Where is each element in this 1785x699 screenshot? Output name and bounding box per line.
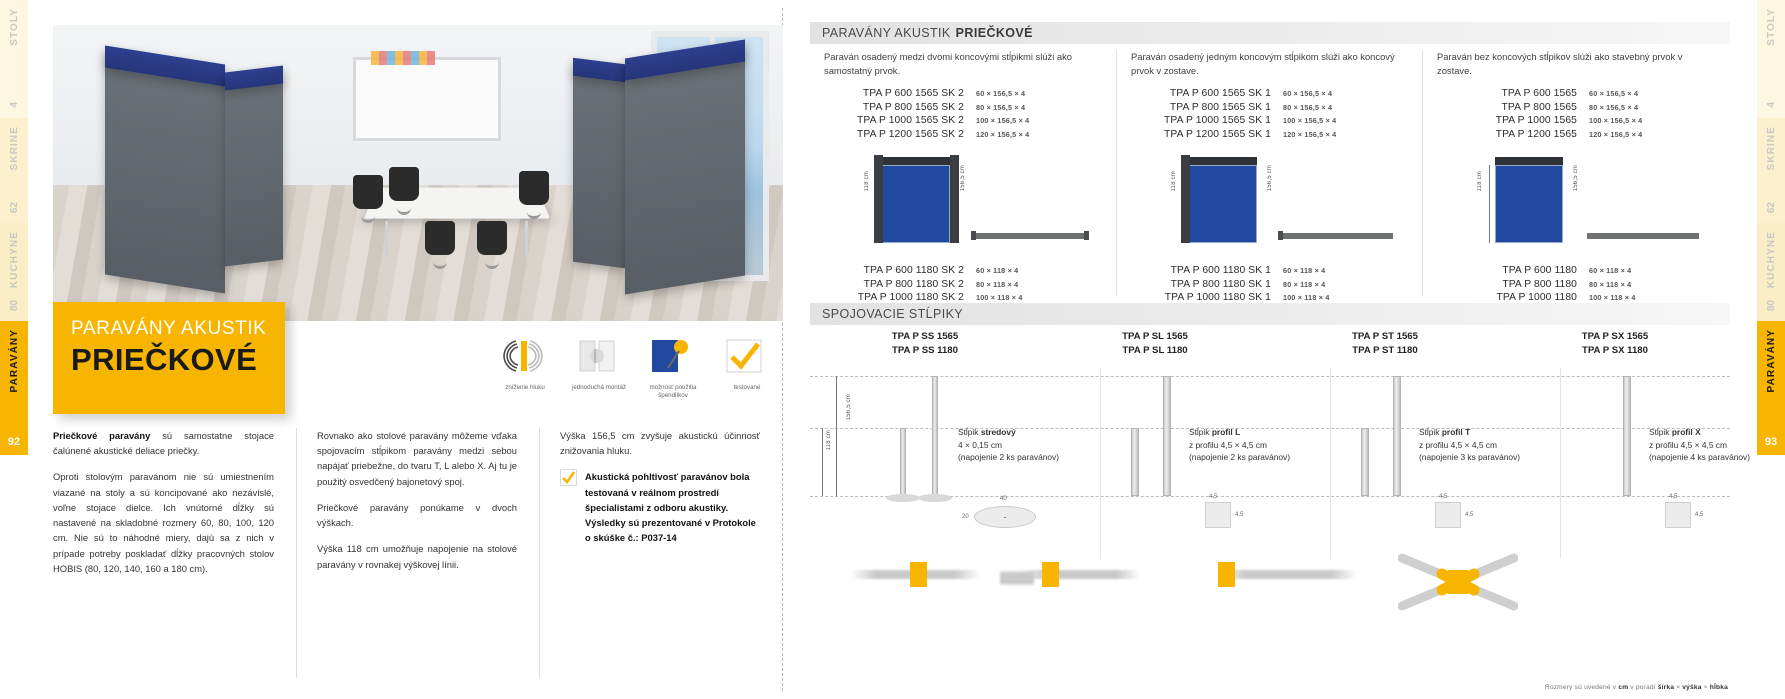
product-code: TPA P 600 1180 SK 1 [1131, 265, 1283, 276]
feature-icon-assembly: jednoduchá montáž [570, 332, 628, 402]
product-dimensions: 60 × 156,5 × 4 [1589, 89, 1638, 98]
end-post-left [1181, 155, 1190, 243]
partition-panel-grey-3 [573, 62, 625, 268]
hero-photo [53, 25, 783, 321]
code-row: TPA P 800 1565 SK 180 × 156,5 × 4 [1131, 102, 1408, 116]
dimension-118: 118 cm [826, 430, 832, 450]
sidebar-item-stoly[interactable]: STOLY 4 [0, 0, 28, 118]
stlpik-label-lead: Stĺpik [1189, 427, 1212, 437]
dimension-depth: 4,5 [1695, 512, 1703, 518]
code-row: TPA P 600 1180 SK 160 × 118 × 4 [1131, 265, 1408, 279]
office-chair [425, 221, 455, 255]
post-cross-section-oval: - [974, 506, 1036, 528]
dimension-1565: 156,5 cm [846, 394, 852, 420]
stlpiky-header-1: TPA P SS 1565 TPA P SS 1180 [810, 330, 1040, 358]
whiteboard [353, 57, 501, 141]
section-header-text: SPOJOVACIE STĹPIKY [822, 307, 963, 321]
partition-panel-grey-2 [225, 69, 283, 266]
sidebar-item-label: SKRINE [9, 126, 20, 170]
stlpiky-header-3: TPA P ST 1565 TPA P ST 1180 [1270, 330, 1500, 358]
product-code: TPA P 800 1180 SK 1 [1131, 279, 1283, 290]
section-header-bold: PRIEČKOVÉ [956, 26, 1033, 40]
connector-L-icon [1042, 562, 1059, 587]
product-code: TPA P SL 1565 [1040, 330, 1270, 344]
tested-check-icon [560, 469, 577, 486]
code-row: TPA P 1000 1565 SK 1100 × 156,5 × 4 [1131, 115, 1408, 129]
product-code: TPA P 1200 1565 SK 2 [824, 129, 976, 140]
feature-icons-row: zníženie hluku jednoduchá montáž [496, 332, 776, 402]
paragraph-rest: Rovnako ako stolové paravány môžeme vďak… [317, 430, 517, 487]
sidebar-item-paravany[interactable]: PARAVÁNY 92 [0, 321, 28, 429]
end-post-left [874, 155, 883, 243]
sidebar-item-label: STOLY [9, 8, 20, 46]
post-foot [886, 494, 920, 502]
code-row: TPA P 600 156560 × 156,5 × 4 [1437, 88, 1714, 102]
stlpik-label-rest: 4 × 0,15 cm (napojenie 2 ks paravánov) [958, 440, 1059, 463]
connector-T-icon [1218, 562, 1235, 587]
code-row: TPA P 1000 1565 SK 2100 × 156,5 × 4 [824, 115, 1102, 129]
dimension-height-1565: 156,5 cm [960, 165, 966, 191]
stlpiky-header-2: TPA P SL 1565 TPA P SL 1180 [1040, 330, 1270, 358]
dimension-height-118: 118 cm [1477, 171, 1483, 191]
product-code: TPA P 1000 1180 SK 1 [1131, 292, 1283, 303]
stlpik-column-3: Stĺpik profil T z profilu 4,5 × 4,5 cm (… [1330, 368, 1560, 558]
sidebar-item-number: 80 [9, 300, 20, 311]
office-chair [477, 221, 507, 255]
dimension-height-1565: 156,5 cm [1267, 165, 1273, 191]
post-short-preview [1131, 428, 1139, 496]
page-number-left: 92 [0, 429, 28, 455]
product-code: TPA P ST 1180 [1270, 344, 1500, 358]
sidebar-item-number: 4 [1766, 102, 1777, 108]
table-leg [525, 221, 528, 257]
product-dimensions: 100 × 156,5 × 4 [976, 116, 1029, 125]
dimension-height-1565: 156,5 cm [1573, 165, 1579, 191]
sidebar-item-skrine[interactable]: SKRINE 62 [0, 118, 28, 223]
panel-base-view [1587, 233, 1699, 239]
feature-icon-caption: jednoduchá montáž [570, 384, 628, 392]
page-title-line2: PRIEČKOVÉ [71, 343, 267, 376]
dimension-depth: 4,5 [1465, 512, 1473, 518]
dimension-height-118: 118 cm [864, 171, 870, 191]
paragraph: Priečkové paravány sú samostatne stojace… [53, 428, 274, 458]
paragraph: Oproti stolovým paravánom nie sú umiestn… [53, 469, 274, 576]
sidebar-item-label: PARAVÁNY [9, 329, 20, 392]
panel-blue-body [882, 165, 950, 243]
sidebar-item-number: 62 [9, 202, 20, 213]
code-row: TPA P 800 156580 × 156,5 × 4 [1437, 102, 1714, 116]
stlpik-label-rest: z profilu 4,5 × 4,5 cm (napojenie 2 ks p… [1189, 440, 1290, 463]
footnote-pre: Rozmery sú uvedené v [1545, 684, 1618, 691]
panel-variant-columns: Paraván osadený medzi dvomi koncovými st… [810, 50, 1730, 296]
dimension-width: 4,5 [1439, 494, 1447, 500]
section-header-normal: PARAVÁNY AKUSTIK [822, 26, 951, 40]
stlpiky-drawings: 118 cm 156,5 cm Stĺpik stredový 4 × 0,15… [810, 368, 1730, 558]
section-header-paravany: PARAVÁNY AKUSTIK PRIEČKOVÉ [810, 22, 1730, 44]
product-code: TPA P SX 1565 [1500, 330, 1730, 344]
product-code: TPA P 1000 1180 SK 2 [824, 292, 976, 303]
post-tall-preview [1623, 376, 1631, 496]
product-dimensions: 60 × 118 × 4 [976, 266, 1018, 275]
stlpik-column-2: Stĺpik profil L z profilu 4,5 × 4,5 cm (… [1100, 368, 1330, 558]
base-cap [1084, 231, 1089, 240]
footnote-d2: výška [1682, 684, 1701, 691]
product-dimensions: 100 × 118 × 4 [1589, 293, 1636, 302]
product-dimensions: 100 × 156,5 × 4 [1283, 116, 1336, 125]
product-dimensions: 60 × 118 × 4 [1283, 266, 1325, 275]
dimension-line [1489, 165, 1490, 243]
dimension-height-118: 118 cm [1171, 171, 1177, 191]
feature-icon-tested: testované [718, 332, 776, 402]
product-code: TPA P 600 1180 [1437, 265, 1589, 276]
code-row: TPA P 800 1180 SK 180 × 118 × 4 [1131, 279, 1408, 293]
noise-reduction-icon [496, 332, 550, 380]
body-text-columns: Priečkové paravány sú samostatne stojace… [53, 428, 783, 678]
panel-blue-body [1495, 165, 1563, 243]
variant-description: Paraván osadený jedným koncovým stĺpikom… [1131, 50, 1408, 80]
product-dimensions: 100 × 118 × 4 [1283, 293, 1330, 302]
panel-base-view [974, 233, 1086, 239]
paragraph-rest: Výška 118 cm umožňuje napojenie na stolo… [317, 543, 517, 569]
stlpiky-header-4: TPA P SX 1565 TPA P SX 1180 [1500, 330, 1730, 358]
panel-connection-T [1218, 570, 1358, 579]
product-code: TPA P SS 1180 [810, 344, 1040, 358]
product-code: TPA P 800 1565 SK 2 [824, 102, 976, 113]
left-page: PARAVÁNY AKUSTIK PRIEČKOVÉ [28, 0, 783, 699]
stlpik-label-rest: z profilu 4,5 × 4,5 cm (napojenie 3 ks p… [1419, 440, 1520, 463]
dimension-line-118 [822, 428, 823, 496]
product-code: TPA P 1000 1180 [1437, 292, 1589, 303]
product-code: TPA P 600 1565 SK 2 [824, 88, 976, 99]
base-cap [971, 231, 976, 240]
code-row: TPA P 1200 1565 SK 2120 × 156,5 × 4 [824, 129, 1102, 143]
paragraph: Rovnako ako stolové paravány môžeme vďak… [317, 428, 517, 489]
sidebar-item-stoly-right[interactable]: STOLY 4 [1757, 0, 1785, 118]
product-code: TPA P 800 1180 [1437, 279, 1589, 290]
product-code: TPA P 1200 1565 SK 1 [1131, 129, 1283, 140]
sidebar-item-kuchyne[interactable]: KUCHYNE 80 [0, 223, 28, 321]
sidebar-item-label: SKRINE [1766, 126, 1777, 170]
stlpik-column-1: Stĺpik stredový 4 × 0,15 cm (napojenie 2… [870, 368, 1100, 558]
panel-drawing-3: 118 cm 156,5 cm [1437, 149, 1714, 257]
stlpik-label-lead: Stĺpik [958, 427, 981, 437]
code-row: TPA P 600 118060 × 118 × 4 [1437, 265, 1714, 279]
sidebar-item-label: STOLY [1766, 8, 1777, 46]
dimension-depth: 20 [962, 514, 969, 520]
partition-panel-grey-4 [625, 43, 745, 294]
stlpik-label-bold: stredový [981, 427, 1016, 437]
body-column-3: Výška 156,5 cm zvyšuje akustickú účinnos… [539, 428, 782, 678]
product-dimensions: 80 × 156,5 × 4 [1283, 103, 1332, 112]
stlpik-label-lead: Stĺpik [1649, 427, 1672, 437]
footnote-d1: šírka [1658, 684, 1674, 691]
right-page: PARAVÁNY AKUSTIK PRIEČKOVÉ Paraván osade… [800, 0, 1740, 699]
partition-panel-grey-1 [105, 49, 225, 293]
code-row: TPA P 1000 1565100 × 156,5 × 4 [1437, 115, 1714, 129]
cross-section-square-4 [1665, 502, 1691, 528]
pin-usable-icon [644, 332, 698, 380]
product-code: TPA P 1000 1565 SK 1 [1131, 115, 1283, 126]
product-code: TPA P 800 1565 SK 1 [1131, 102, 1283, 113]
panel-connection-L-leg [1000, 570, 1034, 586]
variant-description: Paraván osadený medzi dvomi koncovými st… [824, 50, 1102, 80]
footnote-d3: hĺbka [1710, 684, 1728, 691]
office-chair [389, 167, 419, 201]
cross-section-1: - 40 20 [974, 498, 1044, 528]
sidebar-item-number: 80 [1766, 300, 1777, 311]
feature-icon-caption: zníženie hluku [496, 384, 554, 392]
product-dimensions: 60 × 156,5 × 4 [976, 89, 1025, 98]
panel-variant-2: Paraván osadený jedným koncovým stĺpikom… [1116, 50, 1422, 296]
code-row: TPA P 1200 1565120 × 156,5 × 4 [1437, 129, 1714, 143]
catalog-page: STOLY 4 SKRINE 62 KUCHYNE 80 PARAVÁNY 92… [0, 0, 1785, 699]
body-column-2: Rovnako ako stolové paravány môžeme vďak… [296, 428, 539, 678]
right-side-tabs: STOLY 4 SKRINE 62 KUCHYNE 80 PARAVÁNY 93 [1757, 0, 1785, 699]
paragraph-rest: Priečkové paravány ponúkame v dvoch výšk… [317, 502, 517, 528]
product-dimensions: 120 × 156,5 × 4 [976, 130, 1029, 139]
easy-assembly-icon [570, 332, 624, 380]
product-code: TPA P SS 1565 [810, 330, 1040, 344]
connection-diagrams-row [810, 556, 1730, 600]
product-code: TPA P 600 1180 SK 2 [824, 265, 976, 276]
panel-drawing-1: 118 cm 156,5 cm [824, 149, 1102, 257]
product-dimensions: 80 × 118 × 4 [1589, 280, 1631, 289]
product-dimensions: 80 × 156,5 × 4 [976, 103, 1025, 112]
connector-straight-icon [910, 562, 927, 587]
code-list-tall: TPA P 600 1565 SK 160 × 156,5 × 4 TPA P … [1131, 88, 1408, 142]
dimension-line-1565 [836, 376, 837, 496]
product-code: TPA P 800 1180 SK 2 [824, 279, 976, 290]
variant-description: Paraván bez koncových stĺpikov slúži ako… [1437, 50, 1714, 80]
tested-icon [718, 332, 772, 380]
panel-connection-L [1020, 570, 1140, 579]
code-row: TPA P 600 1565 SK 160 × 156,5 × 4 [1131, 88, 1408, 102]
post-tall-preview [1393, 376, 1401, 496]
product-dimensions: 100 × 156,5 × 4 [1589, 116, 1642, 125]
product-dimensions: 60 × 118 × 4 [1589, 266, 1631, 275]
feature-icon-pins: možnosť použitia špendlíkov [644, 332, 702, 402]
code-row: TPA P 800 1565 SK 280 × 156,5 × 4 [824, 102, 1102, 116]
stlpik-label-bold: profil T [1442, 427, 1470, 437]
stlpik-label-bold: profil X [1672, 427, 1701, 437]
stlpik-label-2: Stĺpik profil L z profilu 4,5 × 4,5 cm (… [1189, 426, 1321, 464]
paragraph-rest: Oproti stolovým paravánom nie sú umiestn… [53, 471, 274, 573]
product-dimensions: 80 × 156,5 × 4 [1589, 103, 1638, 112]
sidebar-item-skrine-right[interactable]: SKRINE 62 [1757, 118, 1785, 223]
product-code: TPA P 1200 1565 [1437, 129, 1589, 140]
code-list-tall: TPA P 600 156560 × 156,5 × 4 TPA P 800 1… [1437, 88, 1714, 142]
table-leg [385, 221, 388, 257]
left-side-tabs: STOLY 4 SKRINE 62 KUCHYNE 80 PARAVÁNY 92 [0, 0, 28, 699]
page-title-line1: PARAVÁNY AKUSTIK [71, 318, 267, 341]
post-foot [918, 494, 952, 502]
stlpik-label-bold: profil L [1212, 427, 1240, 437]
dimension-width: 40 [1000, 496, 1007, 502]
paragraph-lead: Priečkové paravány [53, 430, 150, 441]
panel-blue-body [1189, 165, 1257, 243]
stlpik-label-3: Stĺpik profil T z profilu 4,5 × 4,5 cm (… [1419, 426, 1551, 464]
cross-section-square-2 [1205, 502, 1231, 528]
office-chair [353, 175, 383, 209]
product-code: TPA P 800 1565 [1437, 102, 1589, 113]
panel-base-view [1281, 233, 1393, 239]
post-short-preview [900, 428, 906, 496]
product-dimensions: 80 × 118 × 4 [976, 280, 1018, 289]
code-row: TPA P 600 1565 SK 260 × 156,5 × 4 [824, 88, 1102, 102]
base-cap [1278, 231, 1283, 240]
cross-section-square-3 [1435, 502, 1461, 528]
paragraph: Priečkové paravány ponúkame v dvoch výšk… [317, 500, 517, 530]
dimension-depth: 4,5 [1235, 512, 1243, 518]
post-tall-preview [1163, 376, 1171, 496]
product-code: TPA P SX 1180 [1500, 344, 1730, 358]
code-list-tall: TPA P 600 1565 SK 260 × 156,5 × 4 TPA P … [824, 88, 1102, 142]
sticky-notes [371, 51, 435, 65]
feature-icon-caption: možnosť použitia špendlíkov [644, 384, 702, 400]
footnote-mid: v poradí [1628, 684, 1658, 691]
sidebar-item-number: 4 [9, 102, 20, 108]
section-header-stlpiky: SPOJOVACIE STĹPIKY [810, 303, 1730, 325]
product-code: TPA P 1000 1565 [1437, 115, 1589, 126]
stlpik-label-4: Stĺpik profil X z profilu 4,5 × 4,5 cm (… [1649, 426, 1781, 464]
panel-variant-3: Paraván bez koncových stĺpikov slúži ako… [1422, 50, 1728, 296]
product-dimensions: 120 × 156,5 × 4 [1283, 130, 1336, 139]
product-code: TPA P 600 1565 SK 1 [1131, 88, 1283, 99]
code-row: TPA P 800 118080 × 118 × 4 [1437, 279, 1714, 293]
footnote-units: Rozmery sú uvedené v cm v poradí šírka ×… [1545, 684, 1728, 691]
sidebar-item-number: 62 [1766, 202, 1777, 213]
dimension-width: 4,5 [1209, 494, 1217, 500]
stlpik-label-lead: Stĺpik [1419, 427, 1442, 437]
product-code: TPA P 600 1565 [1437, 88, 1589, 99]
acoustic-note: Akustická pohltivosť paravánov bola test… [560, 469, 760, 545]
dimension-width: 4,5 [1669, 494, 1677, 500]
panel-drawing-2: 118 cm 156,5 cm [1131, 149, 1408, 257]
feature-icon-caption: testované [718, 384, 776, 392]
stlpik-label-1: Stĺpik stredový 4 × 0,15 cm (napojenie 2… [958, 426, 1090, 464]
product-code: TPA P SL 1180 [1040, 344, 1270, 358]
stlpiky-code-headers: TPA P SS 1565 TPA P SS 1180 TPA P SL 156… [810, 330, 1730, 358]
page-title: PARAVÁNY AKUSTIK PRIEČKOVÉ [53, 302, 285, 414]
code-row: TPA P 1200 1565 SK 1120 × 156,5 × 4 [1131, 129, 1408, 143]
body-column-1: Priečkové paravány sú samostatne stojace… [53, 428, 296, 678]
footnote-sep2: × [1702, 684, 1710, 691]
paragraph: Výška 118 cm umožňuje napojenie na stolo… [317, 541, 517, 571]
post-tall-preview [932, 376, 938, 496]
connector-X-icon [1398, 552, 1454, 608]
post-short-preview [1361, 428, 1369, 496]
footnote-unit: cm [1618, 684, 1628, 691]
product-dimensions: 120 × 156,5 × 4 [1589, 130, 1642, 139]
feature-icon-noise: zníženie hluku [496, 332, 554, 402]
product-dimensions: 60 × 156,5 × 4 [1283, 89, 1332, 98]
sidebar-item-kuchyne-right[interactable]: KUCHYNE 80 [1757, 223, 1785, 321]
stlpik-label-rest: z profilu 4,5 × 4,5 cm (napojenie 4 ks p… [1649, 440, 1750, 463]
paragraph-rest: Výška 156,5 cm zvyšuje akustickú účinnos… [560, 430, 760, 456]
paragraph: Výška 156,5 cm zvyšuje akustickú účinnos… [560, 428, 760, 458]
product-dimensions: 80 × 118 × 4 [1283, 280, 1325, 289]
product-dimensions: 100 × 118 × 4 [976, 293, 1023, 302]
product-code: TPA P 1000 1565 SK 2 [824, 115, 976, 126]
sidebar-item-label: KUCHYNE [9, 231, 20, 288]
code-row: TPA P 600 1180 SK 260 × 118 × 4 [824, 265, 1102, 279]
product-code: TPA P ST 1565 [1270, 330, 1500, 344]
sidebar-item-label: KUCHYNE [1766, 231, 1777, 288]
acoustic-note-text: Akustická pohltivosť paravánov bola test… [585, 469, 760, 545]
code-row: TPA P 800 1180 SK 280 × 118 × 4 [824, 279, 1102, 293]
stlpik-column-4: Stĺpik profil X z profilu 4,5 × 4,5 cm (… [1560, 368, 1785, 558]
office-chair [519, 171, 549, 205]
panel-variant-1: Paraván osadený medzi dvomi koncovými st… [810, 50, 1116, 296]
end-post-right [950, 155, 959, 243]
